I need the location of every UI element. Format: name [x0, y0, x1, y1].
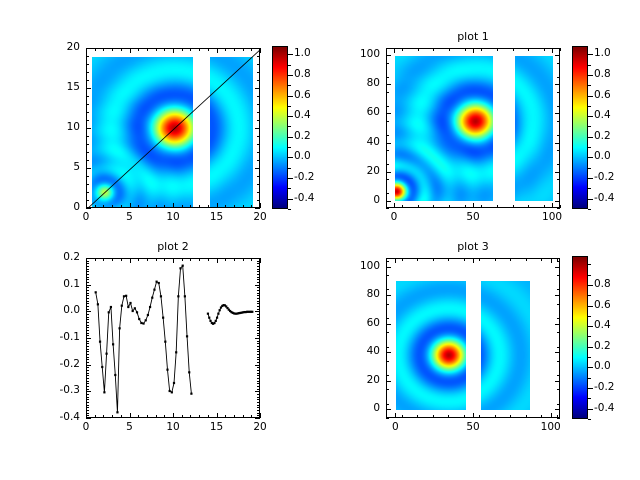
x-tick-minor: [147, 48, 148, 51]
y-tick-major: [386, 352, 391, 353]
x-tick-minor: [234, 258, 235, 261]
colorbar-bottom-right: [572, 256, 588, 419]
y-tick-minor: [86, 391, 89, 392]
panel-title-bottom-left: plot 2: [86, 241, 260, 253]
y-tick-minor: [86, 136, 89, 137]
x-tick-minor: [251, 415, 252, 418]
y-tick-minor: [386, 193, 389, 194]
y-tick-minor: [86, 301, 89, 302]
y-tick-major: [386, 172, 391, 173]
colorbar-tick: [588, 409, 593, 410]
x-tick-minor: [479, 415, 480, 418]
y-tick-minor: [86, 413, 89, 414]
line-path-segment-1: [96, 266, 192, 413]
y-tick-minor: [86, 104, 89, 105]
x-tick-minor: [182, 258, 183, 261]
colorbar-tick-label: 0.4: [594, 320, 611, 331]
y-tick-minor: [257, 394, 260, 395]
data-point-marker: [136, 311, 138, 313]
data-point-marker: [149, 306, 151, 308]
y-tick-major: [555, 143, 560, 144]
y-tick-minor: [257, 322, 260, 323]
x-tick-minor: [479, 258, 480, 261]
x-tick-major: [217, 413, 218, 418]
colorbar-tick: [588, 306, 593, 307]
y-tick-minor: [257, 407, 260, 408]
data-point-marker: [169, 390, 171, 392]
y-tick-minor: [86, 80, 89, 81]
y-tick-minor: [257, 271, 260, 272]
y-tick-label: 20: [40, 42, 80, 53]
x-tick-major: [260, 203, 261, 208]
data-point-marker: [132, 310, 134, 312]
y-tick-minor: [86, 327, 89, 328]
axes-frame-bottom-right: [386, 258, 560, 418]
heatmap-canvas: [210, 57, 253, 208]
colorbar-tick-minor: [288, 106, 291, 107]
y-tick-major: [555, 409, 560, 410]
colorbar-tick: [588, 137, 593, 138]
colorbar-tick-minor: [288, 168, 291, 169]
x-tick-minor: [528, 205, 529, 208]
colorbar-tick-minor: [288, 85, 291, 86]
heatmap-patch-top-right-0: [395, 56, 493, 201]
y-tick-minor: [86, 373, 89, 374]
y-tick-minor: [257, 325, 260, 326]
y-tick-minor: [257, 309, 260, 310]
y-tick-major: [555, 84, 560, 85]
data-point-marker: [127, 306, 129, 308]
x-tick-minor: [103, 415, 104, 418]
y-tick-label: -0.1: [40, 332, 80, 343]
data-point-marker: [140, 322, 142, 324]
x-tick-minor: [433, 205, 434, 208]
x-tick-major: [173, 203, 174, 208]
x-tick-minor: [156, 415, 157, 418]
y-tick-minor: [86, 418, 89, 419]
y-tick-minor: [257, 184, 260, 185]
colorbar-tick: [588, 157, 593, 158]
x-tick-major: [473, 413, 474, 418]
y-tick-minor: [257, 330, 260, 331]
x-tick-label: 0: [376, 212, 412, 223]
y-tick-minor: [86, 285, 89, 286]
y-tick-label: 0: [340, 195, 380, 206]
x-tick-minor: [234, 415, 235, 418]
y-tick-label: 15: [40, 82, 80, 93]
colorbar-gradient: [573, 257, 587, 418]
y-tick-minor: [557, 318, 560, 319]
y-tick-minor: [257, 261, 260, 262]
y-tick-minor: [386, 418, 389, 419]
colorbar-tick-label: 0.2: [594, 341, 611, 352]
y-tick-minor: [86, 160, 89, 161]
y-tick-minor: [557, 332, 560, 333]
data-point-marker: [119, 327, 121, 329]
y-tick-minor: [86, 378, 89, 379]
x-tick-minor: [465, 48, 466, 51]
colorbar-tick-label: -0.2: [294, 172, 315, 183]
heatmap-patch-bottom-right-1: [481, 281, 530, 410]
y-tick-minor: [257, 120, 260, 121]
data-point-marker: [158, 282, 160, 284]
y-tick-minor: [86, 298, 89, 299]
x-tick-minor: [225, 415, 226, 418]
y-tick-minor: [86, 325, 89, 326]
y-tick-label: -0.3: [40, 385, 80, 396]
colorbar-tick: [588, 326, 593, 327]
y-tick-minor: [86, 282, 89, 283]
x-tick-minor: [138, 48, 139, 51]
y-tick-minor: [257, 72, 260, 73]
x-tick-minor: [208, 258, 209, 261]
x-tick-minor: [199, 415, 200, 418]
x-tick-minor: [243, 258, 244, 261]
x-tick-minor: [156, 205, 157, 208]
x-tick-minor: [95, 48, 96, 51]
y-tick-major: [386, 324, 391, 325]
x-tick-major: [473, 258, 474, 263]
y-tick-minor: [86, 381, 89, 382]
y-tick-minor: [557, 121, 560, 122]
y-tick-major: [555, 352, 560, 353]
colorbar-tick-label: 0.4: [294, 110, 311, 121]
y-tick-minor: [257, 152, 260, 153]
y-tick-minor: [257, 349, 260, 350]
colorbar-tick: [288, 157, 293, 158]
y-tick-minor: [257, 200, 260, 201]
x-tick-minor: [112, 205, 113, 208]
y-tick-minor: [86, 383, 89, 384]
y-tick-major: [86, 168, 91, 169]
x-tick-minor: [190, 258, 191, 261]
x-tick-label: 20: [242, 422, 278, 433]
x-tick-major: [130, 203, 131, 208]
panel-title-bottom-right: plot 3: [386, 241, 560, 253]
y-tick-minor: [386, 77, 389, 78]
colorbar-tick: [288, 96, 293, 97]
x-tick-minor: [121, 258, 122, 261]
y-tick-minor: [86, 338, 89, 339]
y-tick-minor: [257, 370, 260, 371]
data-point-marker: [209, 320, 211, 322]
y-tick-minor: [257, 80, 260, 81]
colorbar-tick-label: -0.4: [294, 193, 315, 204]
x-tick-minor: [190, 415, 191, 418]
x-tick-minor: [164, 205, 165, 208]
y-tick-minor: [257, 410, 260, 411]
y-tick-minor: [86, 263, 89, 264]
colorbar-tick-minor: [588, 336, 591, 337]
y-tick-minor: [557, 261, 560, 262]
x-tick-minor: [190, 205, 191, 208]
y-tick-minor: [386, 150, 389, 151]
colorbar-tick-minor: [288, 126, 291, 127]
y-tick-minor: [557, 347, 560, 348]
y-tick-minor: [257, 375, 260, 376]
y-tick-minor: [257, 279, 260, 280]
data-point-marker: [175, 351, 177, 353]
y-tick-label: -0.2: [40, 359, 80, 370]
x-tick-minor: [497, 205, 498, 208]
y-tick-minor: [257, 282, 260, 283]
y-tick-minor: [257, 176, 260, 177]
y-tick-minor: [257, 293, 260, 294]
data-point-marker: [190, 393, 192, 395]
y-tick-minor: [557, 418, 560, 419]
data-point-marker: [217, 313, 219, 315]
data-point-marker: [219, 309, 221, 311]
panel-title-top-right: plot 1: [386, 31, 560, 43]
colorbar-top-left: [272, 46, 288, 209]
axes-frame-top-right: [386, 48, 560, 208]
y-tick-minor: [86, 271, 89, 272]
data-point-marker: [108, 311, 110, 313]
x-tick-minor: [147, 415, 148, 418]
colorbar-tick-minor: [588, 188, 591, 189]
y-tick-major: [86, 208, 91, 209]
y-tick-minor: [557, 106, 560, 107]
x-tick-minor: [526, 258, 527, 261]
x-tick-minor: [251, 48, 252, 51]
y-tick-minor: [557, 304, 560, 305]
y-tick-minor: [86, 311, 89, 312]
colorbar-tick-minor: [588, 126, 591, 127]
x-tick-minor: [560, 48, 561, 51]
x-tick-minor: [95, 258, 96, 261]
heatmap-canvas: [515, 56, 553, 201]
data-point-marker: [121, 305, 123, 307]
x-tick-major: [395, 413, 396, 418]
x-tick-minor: [495, 258, 496, 261]
x-tick-minor: [402, 258, 403, 261]
data-point-marker: [95, 291, 97, 293]
y-tick-minor: [86, 290, 89, 291]
colorbar-tick-minor: [588, 85, 591, 86]
colorbar-tick-minor: [588, 378, 591, 379]
x-tick-label: 100: [534, 212, 570, 223]
heatmap-patch-bottom-right-0: [396, 281, 466, 410]
y-tick-minor: [386, 361, 389, 362]
colorbar-tick-label: -0.2: [594, 172, 615, 183]
x-tick-label: 5: [112, 212, 148, 223]
x-tick-minor: [103, 205, 104, 208]
y-tick-label: 0.1: [40, 279, 80, 290]
y-tick-minor: [386, 304, 389, 305]
y-tick-minor: [386, 208, 389, 209]
x-tick-minor: [243, 205, 244, 208]
y-tick-minor: [86, 120, 89, 121]
x-tick-minor: [541, 258, 542, 261]
x-tick-minor: [95, 415, 96, 418]
y-tick-minor: [557, 150, 560, 151]
y-tick-minor: [257, 160, 260, 161]
y-tick-major: [555, 267, 560, 268]
x-tick-minor: [544, 48, 545, 51]
colorbar-tick: [588, 116, 593, 117]
y-tick-minor: [86, 144, 89, 145]
axes-frame-bottom-left: [86, 258, 260, 418]
y-tick-minor: [86, 279, 89, 280]
colorbar-tick-label: 0.2: [594, 131, 611, 142]
data-point-marker: [123, 295, 125, 297]
y-tick-minor: [86, 56, 89, 57]
y-tick-minor: [257, 295, 260, 296]
x-tick-minor: [541, 415, 542, 418]
x-tick-minor: [417, 415, 418, 418]
y-tick-minor: [257, 277, 260, 278]
data-point-marker: [156, 281, 158, 283]
data-point-marker: [99, 341, 101, 343]
heatmap-canvas: [481, 281, 530, 410]
y-tick-major: [386, 113, 391, 114]
x-tick-major: [260, 413, 261, 418]
y-tick-minor: [386, 289, 389, 290]
y-tick-minor: [257, 415, 260, 416]
y-tick-minor: [86, 386, 89, 387]
colorbar-tick-minor: [588, 398, 591, 399]
y-tick-minor: [257, 386, 260, 387]
x-tick-minor: [121, 48, 122, 51]
x-tick-minor: [528, 48, 529, 51]
y-tick-minor: [86, 415, 89, 416]
heatmap-canvas: [396, 281, 466, 410]
y-tick-minor: [86, 394, 89, 395]
y-tick-major: [255, 168, 260, 169]
y-tick-minor: [86, 410, 89, 411]
y-tick-minor: [257, 327, 260, 328]
x-tick-label: 20: [242, 212, 278, 223]
colorbar-tick-minor: [588, 147, 591, 148]
colorbar-tick-minor: [588, 357, 591, 358]
x-tick-minor: [513, 48, 514, 51]
y-tick-minor: [86, 317, 89, 318]
y-tick-minor: [557, 404, 560, 405]
y-tick-minor: [257, 357, 260, 358]
colorbar-tick-label: 0.0: [294, 151, 311, 162]
y-tick-minor: [557, 48, 560, 49]
data-point-marker: [116, 411, 118, 413]
y-tick-label: 100: [340, 261, 380, 272]
x-tick-minor: [510, 258, 511, 261]
data-point-marker: [173, 382, 175, 384]
colorbar-tick: [588, 54, 593, 55]
y-tick-major: [555, 381, 560, 382]
x-tick-major: [473, 203, 474, 208]
y-tick-minor: [86, 370, 89, 371]
x-tick-minor: [418, 205, 419, 208]
y-tick-minor: [86, 295, 89, 296]
y-tick-label: 0: [40, 202, 80, 213]
y-tick-minor: [257, 112, 260, 113]
x-tick-minor: [464, 258, 465, 261]
y-tick-minor: [257, 303, 260, 304]
y-tick-minor: [257, 413, 260, 414]
y-tick-major: [555, 201, 560, 202]
y-tick-minor: [86, 399, 89, 400]
y-tick-minor: [257, 397, 260, 398]
y-tick-minor: [86, 314, 89, 315]
y-tick-minor: [86, 293, 89, 294]
x-tick-label: 15: [199, 212, 235, 223]
figure-canvas: 05101520051015201.00.80.60.40.20.0-0.2-0…: [0, 0, 640, 480]
y-tick-minor: [86, 176, 89, 177]
colorbar-tick-minor: [588, 65, 591, 66]
y-tick-minor: [86, 200, 89, 201]
y-tick-minor: [557, 179, 560, 180]
y-tick-minor: [86, 359, 89, 360]
y-tick-minor: [557, 375, 560, 376]
y-tick-minor: [257, 346, 260, 347]
heatmap-canvas: [92, 57, 193, 208]
y-tick-minor: [86, 354, 89, 355]
x-tick-major: [394, 48, 395, 53]
x-tick-major: [473, 48, 474, 53]
y-tick-minor: [257, 391, 260, 392]
y-tick-minor: [86, 72, 89, 73]
y-tick-minor: [557, 289, 560, 290]
y-tick-minor: [86, 333, 89, 334]
line-path-segment-2: [208, 305, 252, 324]
data-point-marker: [125, 295, 127, 297]
data-point-marker: [166, 369, 168, 371]
data-point-marker: [114, 374, 116, 376]
y-tick-label: 60: [340, 107, 380, 118]
colorbar-gradient: [273, 47, 287, 208]
x-tick-major: [260, 258, 261, 263]
x-tick-minor: [481, 48, 482, 51]
y-tick-label: 80: [340, 78, 380, 89]
colorbar-tick: [288, 137, 293, 138]
x-tick-label: 50: [455, 212, 491, 223]
x-tick-minor: [190, 48, 191, 51]
x-tick-major: [130, 413, 131, 418]
y-tick-major: [255, 88, 260, 89]
y-tick-minor: [257, 351, 260, 352]
colorbar-tick-minor: [288, 209, 291, 210]
x-tick-minor: [449, 48, 450, 51]
y-tick-minor: [557, 208, 560, 209]
x-tick-label: 0: [377, 422, 413, 433]
x-tick-major: [394, 203, 395, 208]
colorbar-tick: [588, 388, 593, 389]
heatmap-patch-top-left-0: [92, 57, 193, 208]
colorbar-tick: [288, 199, 293, 200]
colorbar-tick-label: 0.6: [294, 90, 311, 101]
x-tick-minor: [138, 415, 139, 418]
data-point-marker: [179, 267, 181, 269]
y-tick-minor: [386, 106, 389, 107]
data-point-marker: [138, 318, 140, 320]
x-tick-major: [130, 48, 131, 53]
y-tick-minor: [86, 367, 89, 368]
y-tick-minor: [86, 184, 89, 185]
y-tick-minor: [557, 63, 560, 64]
x-tick-minor: [147, 258, 148, 261]
y-tick-minor: [86, 309, 89, 310]
colorbar-tick-label: 0.6: [594, 300, 611, 311]
y-tick-minor: [257, 399, 260, 400]
x-tick-minor: [433, 48, 434, 51]
y-tick-minor: [257, 354, 260, 355]
x-tick-minor: [402, 415, 403, 418]
y-tick-minor: [257, 341, 260, 342]
x-tick-minor: [95, 205, 96, 208]
y-tick-minor: [386, 375, 389, 376]
y-tick-minor: [86, 351, 89, 352]
x-tick-minor: [112, 415, 113, 418]
colorbar-tick-minor: [588, 419, 591, 420]
